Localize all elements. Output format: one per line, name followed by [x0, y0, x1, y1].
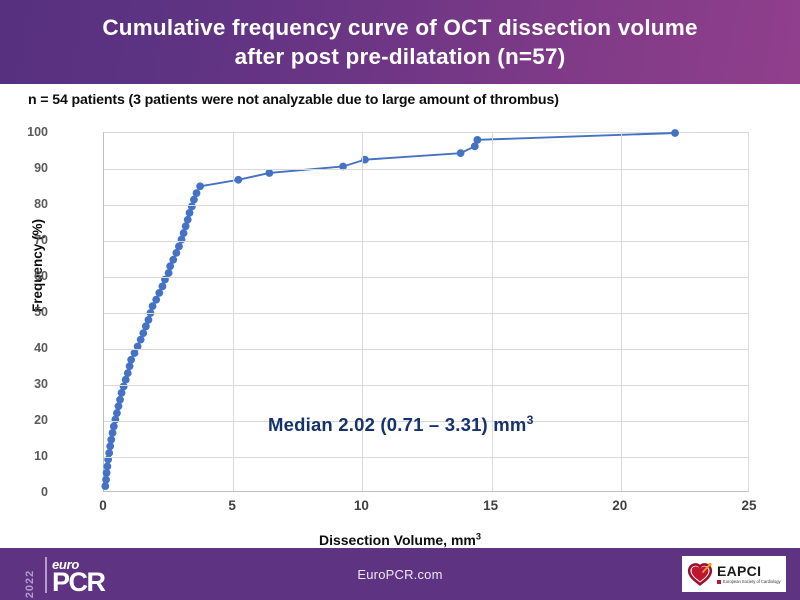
data-point-marker — [102, 476, 110, 484]
y-axis-tick-label: 20 — [34, 413, 48, 427]
data-point-marker — [139, 329, 147, 337]
median-annotation: Median 2.02 (0.71 – 3.31) mm3 — [268, 414, 534, 436]
catheter-tip-icon — [708, 563, 711, 566]
y-axis-tick-label: 40 — [34, 341, 48, 355]
data-point-marker — [473, 136, 481, 144]
data-point-marker — [180, 229, 188, 237]
data-point-marker — [113, 409, 121, 417]
data-point-marker — [184, 216, 192, 224]
data-point-marker — [188, 203, 196, 211]
data-point-marker — [145, 316, 153, 324]
y-axis-tick-label: 10 — [34, 449, 48, 463]
data-point-marker — [126, 362, 134, 370]
data-point-marker — [105, 449, 113, 457]
eapci-subtitle-text: European Society of Cardiology — [723, 579, 781, 584]
chart: Frequency (%) Dissection Volume, mm3 Med… — [0, 118, 800, 543]
data-point-marker — [124, 369, 132, 377]
eapci-name: EAPCI — [717, 564, 781, 578]
gridline-vertical — [233, 133, 234, 491]
gridline-horizontal — [104, 457, 748, 458]
x-axis-tick-label: 0 — [99, 498, 107, 513]
esc-mark-icon — [717, 580, 721, 584]
gridline-horizontal — [104, 169, 748, 170]
data-point-marker — [127, 356, 135, 364]
x-axis-tick-label: 10 — [354, 498, 369, 513]
data-point-marker — [234, 176, 242, 184]
heart-icon — [687, 562, 713, 586]
data-point-marker — [111, 416, 119, 424]
y-axis-tick-label: 0 — [41, 485, 48, 499]
y-axis-tick-label: 30 — [34, 377, 48, 391]
x-axis-title-text: Dissection Volume, mm — [319, 532, 476, 548]
eapci-logo: EAPCI European Society of Cardiology — [682, 556, 786, 592]
gridline-vertical — [492, 133, 493, 491]
eapci-text-block: EAPCI European Society of Cardiology — [717, 564, 781, 585]
data-point-marker — [120, 383, 128, 391]
data-point-marker — [175, 243, 183, 251]
y-axis-tick-label: 50 — [34, 305, 48, 319]
data-point-marker — [115, 402, 123, 410]
gridline-horizontal — [104, 205, 748, 206]
data-point-marker — [107, 436, 115, 444]
data-point-marker — [116, 396, 124, 404]
x-axis-tick-label: 25 — [741, 498, 756, 513]
median-annotation-text: Median 2.02 (0.71 – 3.31) mm — [268, 414, 527, 435]
page-title: Cumulative frequency curve of OCT dissec… — [62, 13, 737, 72]
gridline-vertical — [621, 133, 622, 491]
data-point-marker — [193, 189, 201, 197]
x-axis-tick-label: 5 — [228, 498, 236, 513]
gridline-horizontal — [104, 241, 748, 242]
gridline-horizontal — [104, 277, 748, 278]
data-point-marker — [103, 462, 111, 470]
data-point-marker — [109, 429, 117, 437]
y-axis-tick-label: 80 — [34, 197, 48, 211]
gridline-horizontal — [104, 349, 748, 350]
data-point-marker — [165, 269, 173, 277]
y-axis-tick-label: 70 — [34, 233, 48, 247]
data-point-marker — [159, 282, 167, 290]
y-axis-tick-label: 60 — [34, 269, 48, 283]
data-point-marker — [169, 256, 177, 264]
gridline-horizontal — [104, 385, 748, 386]
data-point-marker — [110, 423, 118, 431]
data-point-marker — [196, 182, 204, 190]
subtitle-text: n = 54 patients (3 patients were not ana… — [28, 92, 788, 108]
x-axis-tick-label: 20 — [612, 498, 627, 513]
gridline-horizontal — [104, 313, 748, 314]
x-axis-title-superscript: 3 — [476, 531, 481, 541]
y-axis-tick-label: 90 — [34, 161, 48, 175]
data-point-marker — [457, 149, 465, 157]
median-annotation-superscript: 3 — [527, 413, 534, 427]
plot-area — [103, 132, 749, 492]
data-point-marker — [671, 129, 679, 137]
slide: Cumulative frequency curve of OCT dissec… — [0, 0, 800, 600]
data-point-marker — [265, 169, 273, 177]
x-axis-tick-label: 15 — [483, 498, 498, 513]
gridline-vertical — [362, 133, 363, 491]
slide-header-banner: Cumulative frequency curve of OCT dissec… — [0, 0, 800, 84]
footer-website-label: EuroPCR.com — [0, 567, 800, 582]
y-axis-tick-label: 100 — [27, 125, 48, 139]
slide-footer: 2022 euro PCR EuroPCR.com EAPCI European… — [0, 548, 800, 600]
eapci-subtitle: European Society of Cardiology — [717, 580, 781, 584]
data-point-marker — [152, 296, 160, 304]
x-axis-title: Dissection Volume, mm3 — [0, 532, 800, 548]
